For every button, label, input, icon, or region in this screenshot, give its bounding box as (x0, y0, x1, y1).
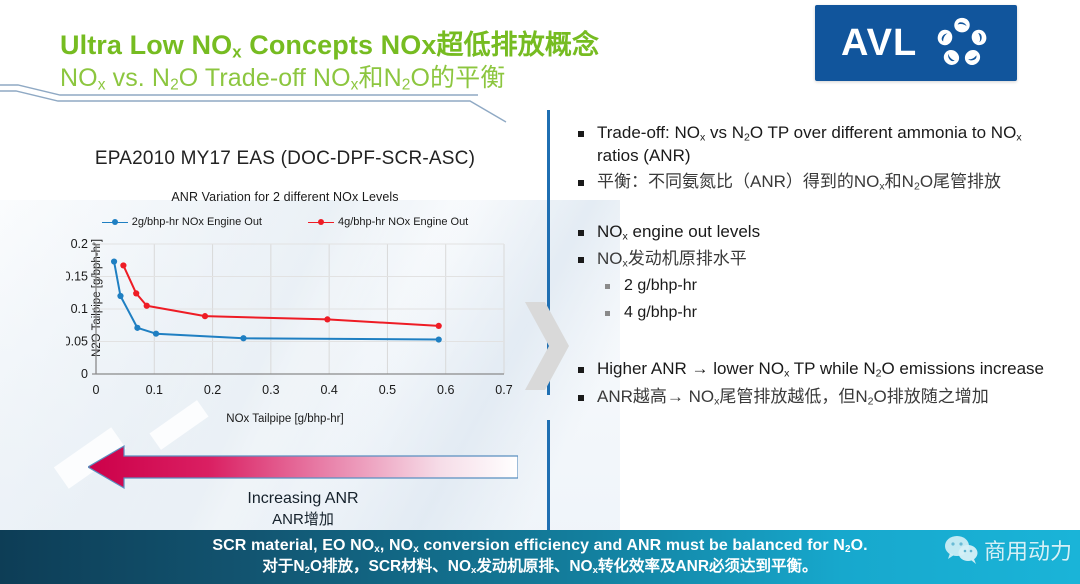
data-point (436, 323, 442, 329)
legend-item-series-2: 4g/bhp-hr NOx Engine Out (308, 216, 468, 228)
title-l1-post: Concepts NOx超低排放概念 (242, 30, 599, 60)
title-l1-pre: Ultra Low NO (60, 30, 232, 60)
subscript: x (1016, 131, 1021, 143)
bullet-text-run: NO (597, 249, 623, 268)
bullet-text-run: 转化效率及ANR必须达到平衡。 (598, 558, 818, 575)
title-l1-sub: x (232, 43, 241, 62)
chart-heading: EPA2010 MY17 EAS (DOC-DPF-SCR-ASC) (50, 148, 520, 170)
series-line-1 (114, 262, 439, 340)
x-tick-label: 0.1 (146, 383, 163, 397)
chart-panel: EPA2010 MY17 EAS (DOC-DPF-SCR-ASC) ANR V… (50, 148, 520, 433)
title-l2-e: O的平衡 (411, 64, 506, 92)
data-point (436, 336, 442, 342)
title-line-2: NOx vs. N2O Trade-off NOx和N2O的平衡 (60, 64, 599, 94)
legend-label-series-1: 2g/bhp-hr NOx Engine Out (132, 216, 262, 228)
chart-title: ANR Variation for 2 different NOx Levels (50, 190, 520, 204)
chart-legend: 2g/bhp-hr NOx Engine Out 4g/bhp-hr NOx E… (50, 216, 520, 228)
bullet-text-run: O排放随之增加 (874, 387, 989, 406)
bullet-text-run: 发动机原排水平 (628, 249, 747, 268)
y-tick-label: 0.15 (66, 270, 88, 284)
data-point (111, 258, 117, 264)
bullet-text-run: TP while N (789, 359, 875, 378)
avl-wordmark: AVL (841, 22, 917, 65)
bullet-item: ANR越高→ NOx尾管排放越低，但N2O排放随之增加 (572, 386, 1050, 409)
y-tick-label: 0.2 (71, 237, 88, 251)
arrow-caption-cn: ANR增加 (88, 510, 518, 530)
y-tick-label: 0.05 (66, 335, 88, 349)
bullet-item: 2 g/bhp-hr (572, 276, 1050, 296)
series-line-2 (123, 265, 438, 325)
panel-divider-bottom (547, 420, 550, 530)
bullet-item: NOx发动机原排水平 (572, 248, 1050, 271)
title-l2-sub2: 2 (170, 77, 179, 94)
legend-marker-red (308, 217, 334, 227)
title-l2-sub4: 2 (402, 77, 411, 94)
legend-marker-blue (102, 217, 128, 227)
banner-text-en: SCR material, EO NOx, NOx conversion eff… (212, 536, 867, 557)
y-tick-label: 0 (81, 367, 88, 381)
chevron-right-icon (523, 300, 569, 392)
bullet-text-run: O尾管排放 (920, 172, 1001, 191)
increasing-anr-arrow (88, 444, 518, 490)
x-tick-label: 0 (93, 383, 100, 397)
data-point (153, 331, 159, 337)
bullet-text-run: Higher ANR → lower NO (597, 359, 784, 378)
arrow-caption: Increasing ANR ANR增加 (88, 488, 518, 530)
title-l2-a: NO (60, 64, 98, 92)
title-line-1: Ultra Low NOx Concepts NOx超低排放概念 (60, 30, 599, 62)
bullet-group-engine-out-sub: 2 g/bhp-hr4 g/bhp-hr (572, 276, 1050, 323)
bullet-text-run: O emissions increase (881, 359, 1044, 378)
x-axis-label: NOx Tailpipe [g/bhp-hr] (50, 413, 520, 425)
x-tick-label: 0.6 (437, 383, 454, 397)
y-tick-label: 0.1 (71, 302, 88, 316)
title-l2-sub3: x (351, 77, 359, 94)
bullet-text-run: O TP over different ammonia to NO (750, 123, 1016, 142)
bullet-text-run: SCR material, EO NO (212, 537, 374, 554)
bullet-item: 4 g/bhp-hr (572, 303, 1050, 323)
title-l2-b: vs. N (106, 64, 171, 92)
page-title: Ultra Low NOx Concepts NOx超低排放概念 NOx vs.… (60, 30, 599, 95)
data-point (144, 303, 150, 309)
bullet-text-run: 发动机原排、NO (476, 558, 592, 575)
bottom-banner: SCR material, EO NOx, NOx conversion eff… (0, 530, 1080, 584)
data-point (117, 293, 123, 299)
x-tick-label: 0.4 (320, 383, 337, 397)
bullet-text-run: O排放，SCR材料、NO (310, 558, 471, 575)
data-point (202, 313, 208, 319)
bullet-text-run: O. (851, 537, 868, 554)
bullet-text-run: 平衡：不同氨氮比（ANR）得到的NO (597, 172, 879, 191)
bullet-item: Trade-off: NOx vs N2O TP over different … (572, 122, 1050, 166)
bullet-item: 平衡：不同氨氮比（ANR）得到的NOx和N2O尾管排放 (572, 171, 1050, 194)
title-l2-c: O Trade-off NO (179, 64, 351, 92)
chart-plot-svg: 00.050.10.150.200.10.20.30.40.50.60.7 (66, 236, 516, 421)
title-l2-d: 和N (359, 64, 402, 92)
x-tick-label: 0.2 (204, 383, 221, 397)
avl-pinwheel-icon (933, 14, 991, 72)
bullet-item: Higher ANR → lower NOx TP while N2O emis… (572, 358, 1050, 381)
bullet-group-tradeoff: Trade-off: NOx vs N2O TP over different … (572, 122, 1050, 194)
bullet-group-engine-out: NOx engine out levelsNOx发动机原排水平 (572, 221, 1050, 271)
bullet-text-run: NO (597, 222, 623, 241)
legend-item-series-1: 2g/bhp-hr NOx Engine Out (102, 216, 262, 228)
bullet-text-run: conversion efficiency and ANR must be ba… (419, 537, 845, 554)
data-point (133, 290, 139, 296)
x-tick-label: 0.7 (495, 383, 512, 397)
bullet-item: NOx engine out levels (572, 221, 1050, 244)
avl-logo: AVL (815, 5, 1017, 81)
arrow-caption-en: Increasing ANR (88, 488, 518, 510)
x-tick-label: 0.3 (262, 383, 279, 397)
plot-area: N2O Tailpipe [g/bph-hr] 00.050.10.150.20… (50, 236, 520, 391)
bullet-group-higher-anr: Higher ANR → lower NOx TP while N2O emis… (572, 358, 1050, 408)
bullet-panel: Trade-off: NOx vs N2O TP over different … (572, 122, 1050, 413)
x-tick-label: 0.5 (379, 383, 396, 397)
bullet-spacer (572, 330, 1050, 358)
bullet-text-run: 和N (885, 172, 914, 191)
banner-text-cn: 对于N2O排放，SCR材料、NOx发动机原排、NOx转化效率及ANR必须达到平衡… (262, 557, 817, 578)
title-l2-sub1: x (98, 77, 106, 94)
bullet-text-run: Trade-off: NO (597, 123, 700, 142)
bullet-text-run: , NO (380, 537, 413, 554)
data-point (134, 325, 140, 331)
data-point (240, 335, 246, 341)
bullet-text-run: ratios (ANR) (597, 146, 691, 165)
bullet-text-run: 2 g/bhp-hr (624, 277, 697, 294)
bullet-text-run: vs N (705, 123, 744, 142)
bullet-text-run: ANR越高→ NO (597, 387, 714, 406)
slide-canvas: Ultra Low NOx Concepts NOx超低排放概念 NOx vs.… (0, 0, 1080, 584)
bullet-spacer (572, 199, 1050, 221)
legend-label-series-2: 4g/bhp-hr NOx Engine Out (338, 216, 468, 228)
bullet-text-run: 对于N (262, 558, 304, 575)
data-point (120, 262, 126, 268)
bullet-text-run: 尾管排放越低，但N (719, 387, 867, 406)
bullet-text-run: engine out levels (628, 222, 760, 241)
data-point (324, 316, 330, 322)
bullet-text-run: 4 g/bhp-hr (624, 304, 697, 321)
